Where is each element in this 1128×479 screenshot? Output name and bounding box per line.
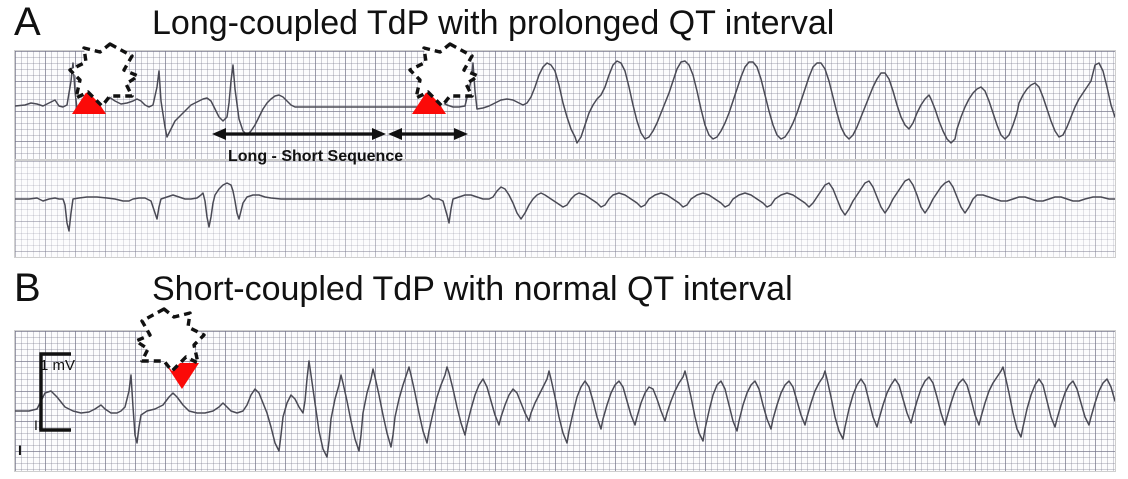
calibration-amplitude-label: 1 mV (40, 357, 75, 374)
dashed-arrow-1 (66, 40, 146, 110)
lead-label-ii: II (34, 417, 42, 433)
ecg-trace-lower (15, 161, 1115, 257)
panel-a-title: Long-coupled TdP with prolonged QT inter… (152, 4, 834, 42)
panel-a-upper-strip (14, 50, 1116, 160)
dashed-arrow-3 (128, 305, 208, 373)
short-interval-arrow (388, 125, 468, 143)
panel-b-title: Short-coupled TdP with normal QT interva… (152, 270, 793, 308)
lead-marker-i: I (18, 442, 22, 458)
panel-a-letter: A (14, 2, 41, 42)
ecg-trace-upper (15, 51, 1115, 159)
long-short-sequence-label: Long - Short Sequence (228, 148, 403, 166)
panel-a-lower-strip (14, 160, 1116, 258)
long-interval-arrow (212, 125, 386, 143)
ecg-figure: A Long-coupled TdP with prolonged QT int… (0, 0, 1128, 479)
panel-b-letter: B (14, 268, 41, 308)
dashed-arrow-2 (406, 40, 486, 110)
